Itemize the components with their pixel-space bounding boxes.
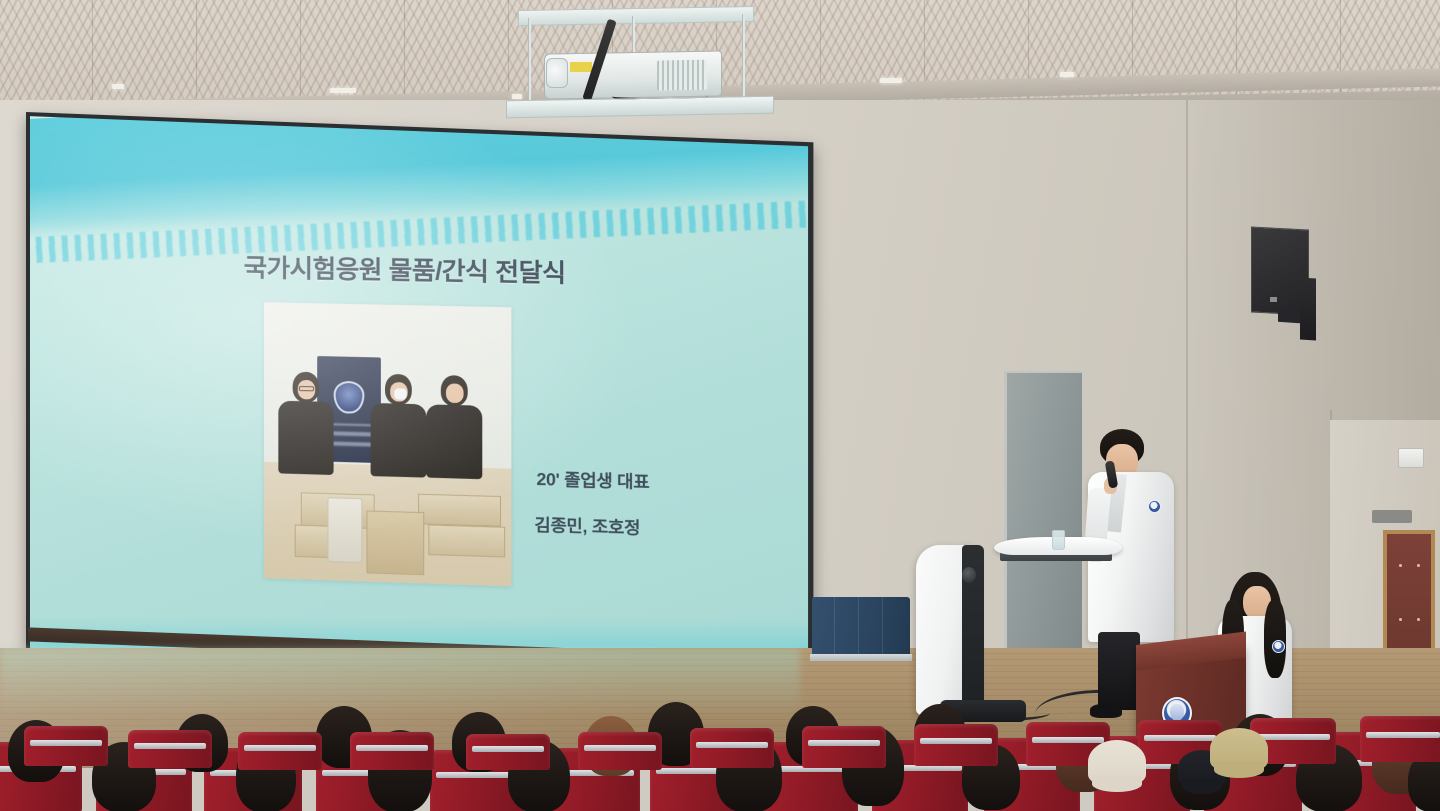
speaker-logo — [1270, 297, 1277, 302]
projector-vents — [657, 60, 707, 91]
slide-title: 국가시험응원 물품/간식 전달식 — [244, 248, 566, 290]
photo-box — [418, 494, 501, 527]
cap-brim — [1182, 778, 1222, 794]
photo-person-right — [426, 375, 482, 479]
wall-panel-upper — [1383, 530, 1435, 666]
cap-brim — [1092, 776, 1142, 792]
photo-person-left — [278, 372, 333, 476]
seat-front[interactable] — [238, 732, 322, 770]
seat-front[interactable] — [466, 734, 550, 770]
seat-trim — [472, 746, 544, 752]
auditorium-scene: 국가시험응원 물품/간식 전달식 — [0, 0, 1440, 811]
draped-table — [812, 597, 910, 659]
seat-front[interactable] — [690, 728, 774, 768]
speaker-mount-bracket — [1300, 277, 1316, 340]
seat-trim — [1256, 734, 1330, 740]
projector-rod — [632, 16, 635, 56]
seat-trim — [244, 745, 316, 751]
seat-front[interactable] — [24, 726, 108, 766]
seat-front[interactable] — [350, 732, 434, 770]
seat-trim — [356, 745, 428, 751]
presenter2-hair-strand — [1264, 600, 1286, 678]
seat-trim — [1144, 735, 1216, 741]
projector-rod — [528, 18, 531, 106]
seat-front[interactable] — [1360, 716, 1440, 762]
presenter2-badge — [1272, 640, 1285, 653]
slide-photo — [264, 302, 511, 586]
seat-trim — [696, 742, 768, 748]
slide-surface: 국가시험응원 물품/간식 전달식 — [30, 116, 808, 699]
audience-area — [0, 690, 1440, 811]
seat-trim — [30, 740, 102, 746]
seat-trim — [1032, 737, 1104, 743]
door-closer-right — [1372, 510, 1412, 523]
seat-trim — [584, 745, 656, 751]
ceiling-light — [880, 78, 902, 83]
seat-trim — [920, 738, 992, 744]
cap-brim — [1214, 762, 1264, 778]
presenter-badge — [1148, 500, 1161, 513]
slide-caption-names: 김종민, 조호정 — [534, 510, 640, 539]
slide-caption-role: 20' 졸업생 대표 — [536, 465, 649, 494]
table-cloth-fringe — [810, 654, 912, 661]
projection-screen: 국가시험응원 물품/간식 전달식 — [26, 112, 813, 710]
av-lectern-knob — [962, 567, 976, 583]
ceiling-light — [112, 84, 124, 89]
photo-box — [428, 524, 505, 557]
ceiling-light — [330, 88, 356, 93]
projector-lens — [546, 58, 568, 88]
seat-trim — [134, 743, 206, 749]
photo-bag — [327, 497, 362, 563]
seat-trim — [1366, 732, 1440, 738]
projector-rod — [742, 14, 745, 104]
photo-person-center — [371, 374, 427, 478]
seat-trim — [808, 740, 880, 746]
ceiling-light — [1060, 72, 1074, 77]
photo-banner-crest — [334, 381, 365, 414]
seat-front[interactable] — [802, 726, 886, 768]
projector-label-sticker — [570, 62, 592, 72]
seat-front[interactable] — [128, 730, 212, 768]
water-glass — [1052, 530, 1065, 550]
exit-sign — [1398, 448, 1424, 468]
seat-front[interactable] — [578, 732, 662, 770]
ceiling-light — [512, 94, 522, 99]
seat-front[interactable] — [914, 724, 998, 766]
photo-open-box — [366, 510, 424, 575]
